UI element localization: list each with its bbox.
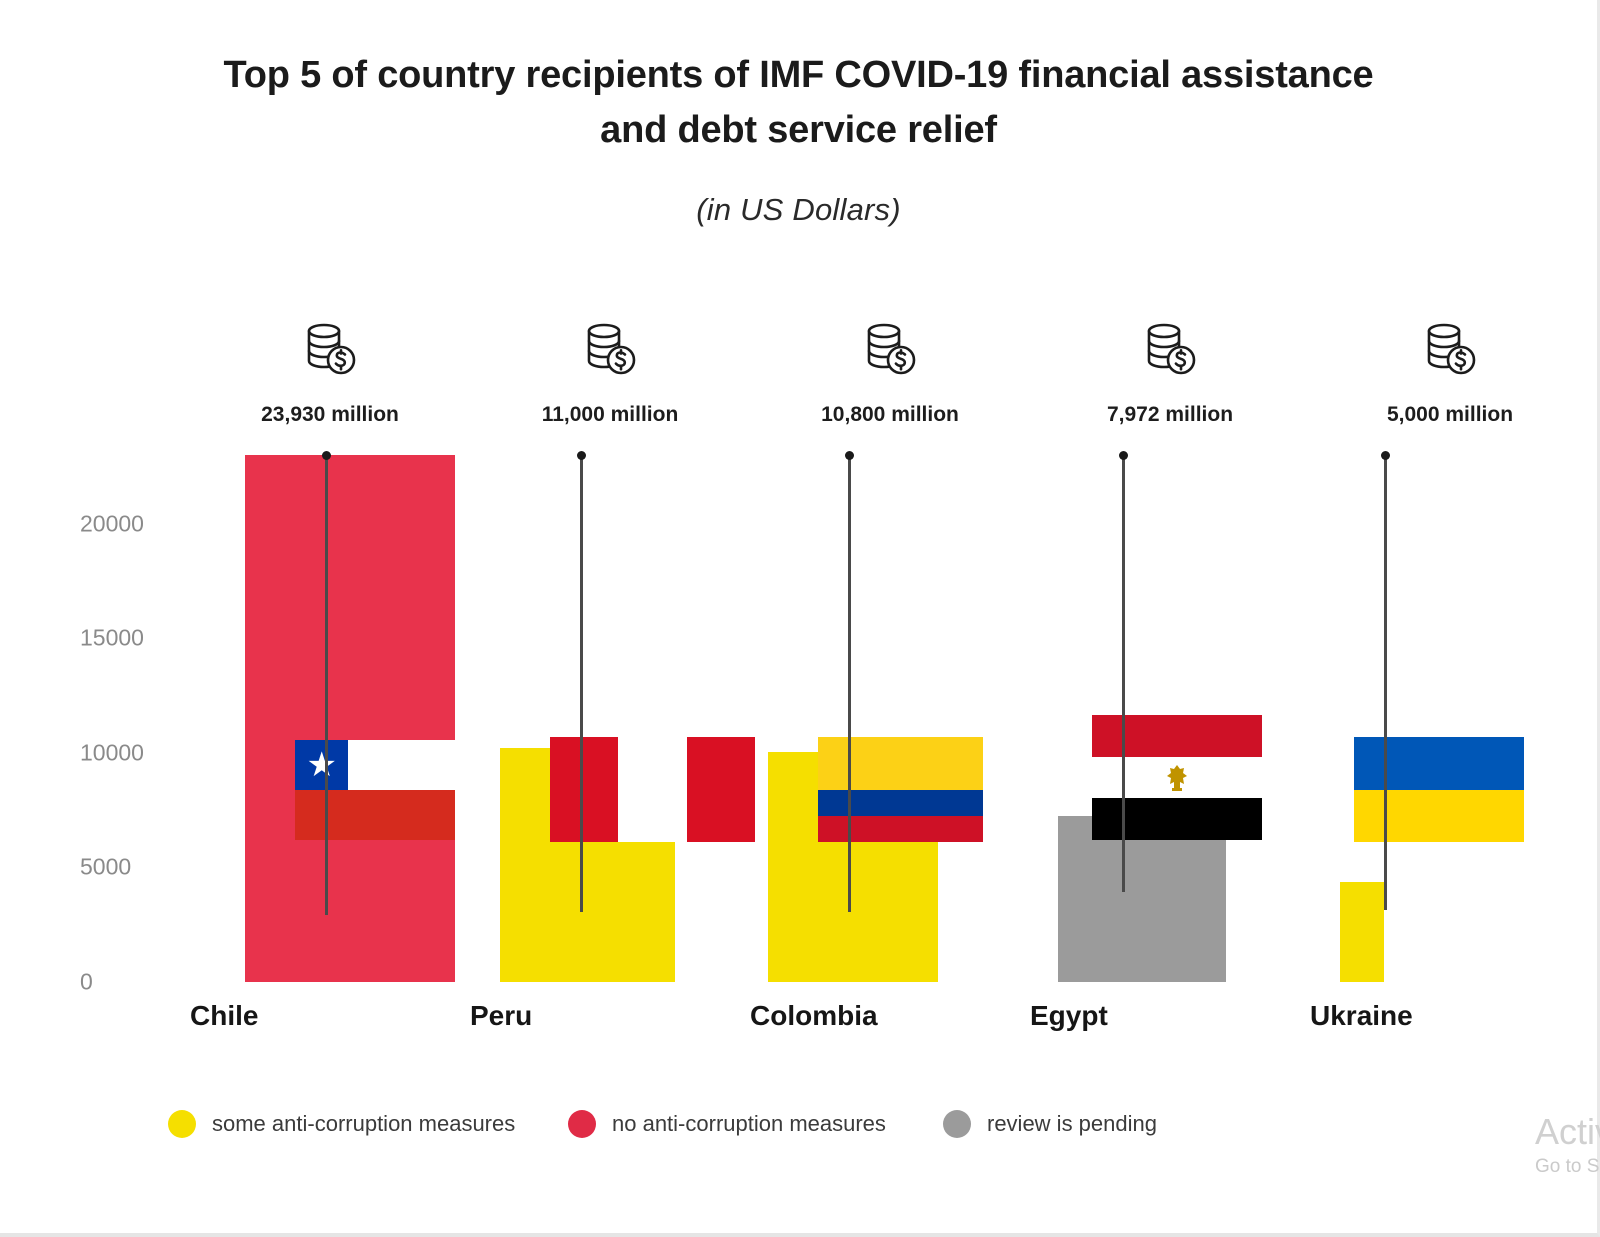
bar-chile[interactable] <box>245 455 455 982</box>
flag-band-red <box>1092 715 1262 757</box>
y-axis-tick-5000: 5000 <box>80 854 190 881</box>
watermark-line-1: Activ <box>1535 1113 1600 1151</box>
windows-activation-watermark: Activ Go to S <box>1535 1113 1600 1181</box>
watermark-line-2: Go to S <box>1535 1154 1600 1181</box>
flag-chile: ★ <box>295 740 455 840</box>
x-axis-label-peru: Peru <box>470 1000 750 1032</box>
page-subtitle: (in US Dollars) <box>0 192 1597 228</box>
leader-dot-colombia <box>845 451 854 460</box>
y-axis-tick-15000: 15000 <box>80 625 190 652</box>
coin-stack-dollar-icon <box>190 322 470 382</box>
coin-stack-dollar-icon <box>470 322 750 382</box>
flag-band-white <box>618 737 686 842</box>
x-axis-label-colombia: Colombia <box>750 1000 1030 1032</box>
legend-no-measures[interactable]: no anti-corruption measures <box>568 1110 886 1138</box>
chart-column-peru: 11,000 million <box>470 300 750 1000</box>
chart-column-ukraine: 5,000 million <box>1310 300 1590 1000</box>
leader-line-peru <box>580 455 583 912</box>
x-axis-label-egypt: Egypt <box>1030 1000 1310 1032</box>
legend-swatch-icon <box>943 1110 971 1138</box>
bar-egypt[interactable] <box>1058 816 1226 982</box>
leader-dot-chile <box>322 451 331 460</box>
chart-column-colombia: 10,800 million <box>750 300 1030 1000</box>
leader-dot-egypt <box>1119 451 1128 460</box>
x-axis-label-chile: Chile <box>190 1000 470 1032</box>
legend-label: review is pending <box>987 1111 1157 1137</box>
legend-some-measures[interactable]: some anti-corruption measures <box>168 1110 515 1138</box>
leader-line-egypt <box>1122 455 1125 892</box>
chart-plot-area: 05000100001500020000 23,930 million ★ 11… <box>60 300 1540 1000</box>
flag-colombia <box>818 737 983 842</box>
title-line-2: and debt service relief <box>0 103 1597 158</box>
coin-stack-dollar-icon <box>750 322 1030 382</box>
y-axis: 05000100001500020000 <box>60 300 190 1000</box>
flag-band-blue <box>818 790 983 816</box>
x-axis-labels: ChilePeruColombiaEgyptUkraine <box>190 1000 1597 1044</box>
leader-line-chile <box>325 455 328 915</box>
legend-swatch-icon <box>168 1110 196 1138</box>
flag-band-blue <box>1354 737 1524 790</box>
coin-stack-dollar-icon <box>1310 322 1590 382</box>
value-label-chile: 23,930 million <box>190 403 470 427</box>
flag-band-yellow <box>818 737 983 790</box>
title-line-1: Top 5 of country recipients of IMF COVID… <box>224 54 1374 96</box>
coin-stack-dollar-icon <box>1030 322 1310 382</box>
leader-dot-peru <box>577 451 586 460</box>
page-title: Top 5 of country recipients of IMF COVID… <box>0 48 1597 158</box>
bar-ukraine[interactable] <box>1340 882 1384 982</box>
legend-label: no anti-corruption measures <box>612 1111 886 1137</box>
slide-canvas: Top 5 of country recipients of IMF COVID… <box>0 0 1600 1237</box>
value-label-peru: 11,000 million <box>470 403 750 427</box>
chart-column-egypt: 7,972 million <box>1030 300 1310 1000</box>
legend-swatch-icon <box>568 1110 596 1138</box>
value-label-colombia: 10,800 million <box>750 403 1030 427</box>
value-label-egypt: 7,972 million <box>1030 403 1310 427</box>
chart-columns: 23,930 million ★ 11,000 million 10,800 m… <box>190 300 1540 1000</box>
legend-review-pending[interactable]: review is pending <box>943 1110 1157 1138</box>
y-axis-tick-20000: 20000 <box>80 510 190 537</box>
flag-band-red <box>818 816 983 842</box>
flag-egypt <box>1092 715 1262 840</box>
leader-line-ukraine <box>1384 455 1387 910</box>
flag-band-black <box>1092 798 1262 840</box>
x-axis-label-ukraine: Ukraine <box>1310 1000 1590 1032</box>
y-axis-tick-0: 0 <box>80 969 190 996</box>
flag-band-red <box>295 790 455 840</box>
flag-band-yellow <box>1354 790 1524 843</box>
value-label-ukraine: 5,000 million <box>1310 403 1590 427</box>
flag-eagle-of-saladin-icon <box>1164 763 1190 793</box>
flag-band-red-left <box>550 737 618 842</box>
legend-label: some anti-corruption measures <box>212 1111 515 1137</box>
chart-column-chile: 23,930 million ★ <box>190 300 470 1000</box>
leader-dot-ukraine <box>1381 451 1390 460</box>
y-axis-tick-10000: 10000 <box>80 739 190 766</box>
flag-ukraine <box>1354 737 1524 842</box>
flag-band-red-right <box>687 737 755 842</box>
leader-line-colombia <box>848 455 851 912</box>
